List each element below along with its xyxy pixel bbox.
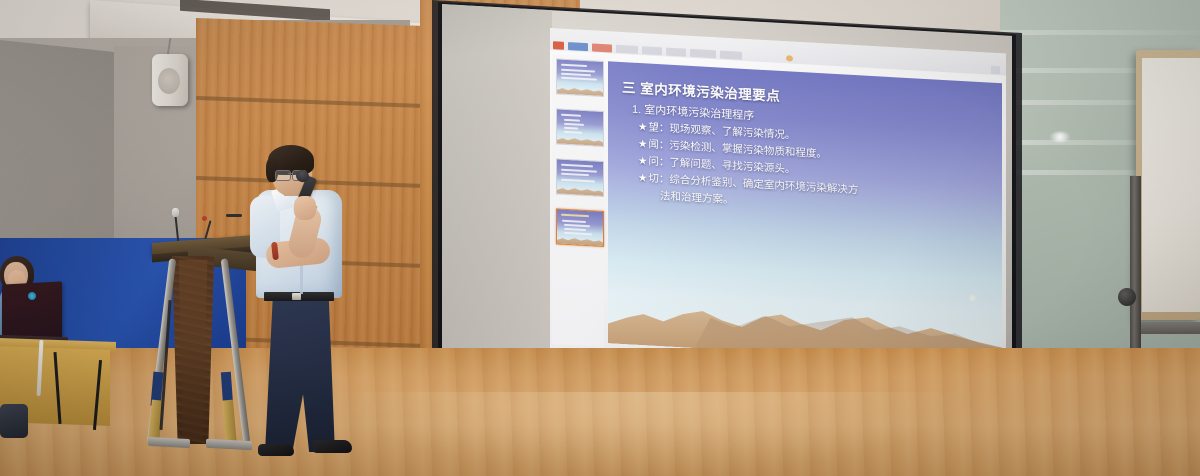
lecture-hall-photo: 三 室内环境污染治理要点 1. 室内环境污染治理程序 ★望：现场观察、了解污染情…: [0, 0, 1200, 476]
presenter-hand: [294, 196, 316, 220]
bullet-label: 问：: [648, 156, 669, 169]
laptop-logo-icon: [28, 292, 36, 300]
laptop-screen: [2, 281, 62, 342]
slide-thumbnail-pane[interactable]: [552, 54, 604, 347]
projected-desktop[interactable]: 三 室内环境污染治理要点 1. 室内环境污染治理程序 ★望：现场观察、了解污染情…: [550, 28, 1006, 393]
presenter-shoe-right: [312, 440, 352, 453]
presenter-belt-buckle: [292, 293, 301, 300]
slide-thumbnail[interactable]: [556, 158, 604, 197]
mic-indicator-light-icon: [202, 216, 207, 221]
ribbon-tab-3[interactable]: [616, 45, 638, 54]
glasses-bridge-icon: [288, 173, 293, 174]
whiteboard-surface: [1142, 58, 1200, 312]
bullet-label: 望：: [648, 122, 669, 135]
star-icon: ★: [638, 172, 647, 185]
speaker-cone-icon: [158, 68, 180, 94]
ribbon-tab-5[interactable]: [666, 48, 686, 57]
glass-light-reflection: [1050, 132, 1070, 142]
bullet-label: 切：: [648, 173, 669, 186]
ribbon-tab-1[interactable]: [568, 42, 588, 51]
presenter-shoe-left: [258, 444, 294, 456]
star-icon: ★: [638, 121, 647, 134]
slide-thumbnail-selected[interactable]: [556, 208, 604, 247]
ribbon-tab-7[interactable]: [720, 51, 742, 60]
whiteboard-pen-tray: [1132, 322, 1200, 334]
floor-light-sheen: [330, 392, 970, 476]
floor-bag: [0, 404, 28, 438]
slide-thumbnail[interactable]: [556, 58, 604, 97]
ribbon-tab-6[interactable]: [690, 49, 716, 58]
star-icon: ★: [638, 155, 647, 168]
gooseneck-mic-arm: [226, 214, 242, 217]
star-icon: ★: [638, 138, 647, 151]
glasses-lens-left-icon: [275, 170, 291, 181]
slide-thumbnail[interactable]: [556, 108, 604, 147]
slide-sun-icon: [969, 294, 976, 301]
ribbon-tab-4[interactable]: [642, 46, 662, 55]
current-slide[interactable]: 三 室内环境污染治理要点 1. 室内环境污染治理程序 ★望：现场观察、了解污染情…: [608, 61, 1002, 365]
gooseneck-mic-head-icon: [172, 208, 179, 217]
ribbon-tab-2[interactable]: [592, 43, 612, 52]
presentation-app-logo-icon: [553, 41, 564, 50]
window-controls-icon[interactable]: [991, 66, 1000, 75]
slide-bullet-list: ★望：现场观察、了解污染情况。 ★闻：污染检测、掌握污染物质和程度。 ★问：了解…: [638, 119, 988, 224]
bullet-label: 闻：: [648, 139, 669, 152]
screen-unlit-area: [442, 4, 552, 384]
whiteboard-adjust-knob[interactable]: [1118, 288, 1136, 306]
ribbon-highlight-icon: [786, 55, 793, 61]
